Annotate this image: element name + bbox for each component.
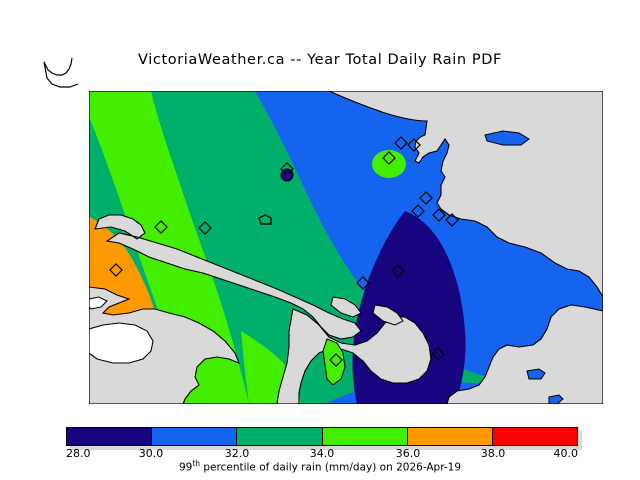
caption-superscript: th [192, 459, 200, 468]
colorbar-band-4 [407, 428, 492, 445]
weather-map-page: VictoriaWeather.ca -- Year Total Daily R… [0, 0, 640, 480]
colorbar-caption: 99th percentile of daily rain (mm/day) o… [0, 459, 640, 474]
caption-prefix: 99 [179, 462, 192, 474]
colorbar-band-0 [67, 428, 151, 445]
colorbar-band-1 [151, 428, 236, 445]
page-title: VictoriaWeather.ca -- Year Total Daily R… [0, 52, 640, 68]
contour-map-plot[interactable] [89, 91, 603, 404]
caption-suffix: percentile of daily rain (mm/day) on 202… [200, 462, 461, 474]
water-bay-southwest [89, 323, 153, 363]
map-svg [89, 91, 603, 404]
colorbar-band-2 [236, 428, 321, 445]
colorbar-band-3 [322, 428, 407, 445]
colorbar-band-5 [492, 428, 577, 445]
colorbar[interactable] [66, 427, 578, 446]
